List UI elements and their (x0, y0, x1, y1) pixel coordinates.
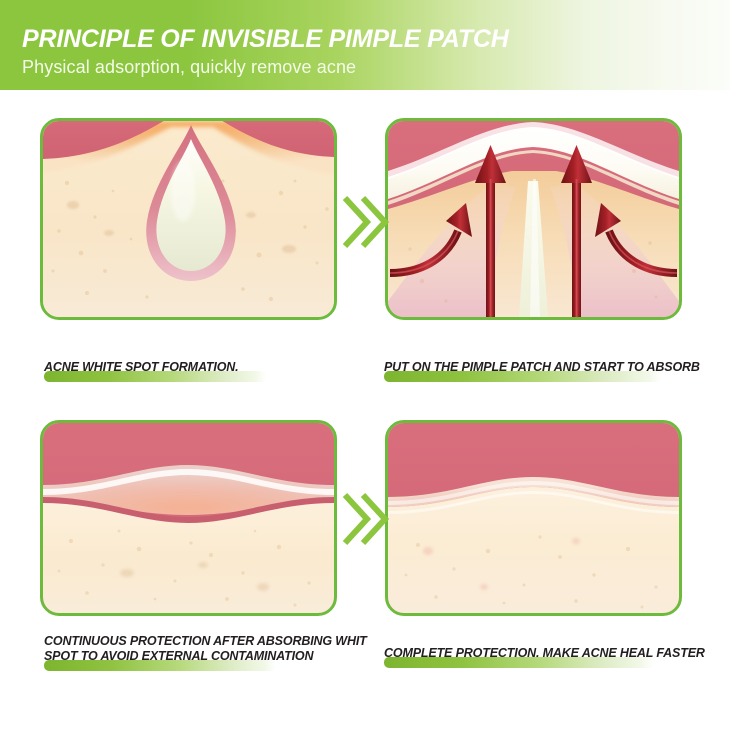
step-2-caption-text: PUT ON THE PIMPLE PATCH AND START TO ABS… (384, 360, 700, 375)
step-3-caption-line-1: CONTINUOUS PROTECTION AFTER ABSORBING WH… (44, 634, 367, 649)
double-chevron-right-icon (341, 190, 389, 254)
page-title: PRINCIPLE OF INVISIBLE PIMPLE PATCH (22, 25, 509, 54)
step-1-caption-text: ACNE WHITE SPOT FORMATION. (44, 360, 238, 375)
patch-dome-with-absorption-arrows-icon (388, 121, 679, 317)
step-4-illustration-panel (385, 420, 682, 616)
double-chevron-right-icon-top (341, 190, 389, 254)
page-subtitle: Physical adsorption, quickly remove acne (22, 57, 356, 78)
double-chevron-right-icon (341, 487, 389, 551)
step-2-illustration-panel (385, 118, 682, 320)
step-3-caption: CONTINUOUS PROTECTION AFTER ABSORBING WH… (44, 634, 367, 664)
step-3-caption-line-2: SPOT TO AVOID EXTERNAL CONTAMINATION (44, 649, 367, 664)
header-banner: PRINCIPLE OF INVISIBLE PIMPLE PATCH Phys… (0, 0, 730, 90)
pore-with-sebum-teardrop-icon (43, 121, 334, 317)
healing-skin-slight-dip-icon (43, 423, 334, 613)
step-4-caption-text: COMPLETE PROTECTION. MAKE ACNE HEAL FAST… (384, 646, 705, 661)
step-4-caption: COMPLETE PROTECTION. MAKE ACNE HEAL FAST… (384, 646, 705, 661)
double-chevron-right-icon-bottom (341, 487, 389, 551)
step-1-caption: ACNE WHITE SPOT FORMATION. (44, 360, 238, 375)
healed-smooth-skin-icon (388, 423, 679, 613)
step-3-illustration-panel (40, 420, 337, 616)
step-2-caption: PUT ON THE PIMPLE PATCH AND START TO ABS… (384, 360, 700, 375)
step-1-illustration-panel (40, 118, 337, 320)
